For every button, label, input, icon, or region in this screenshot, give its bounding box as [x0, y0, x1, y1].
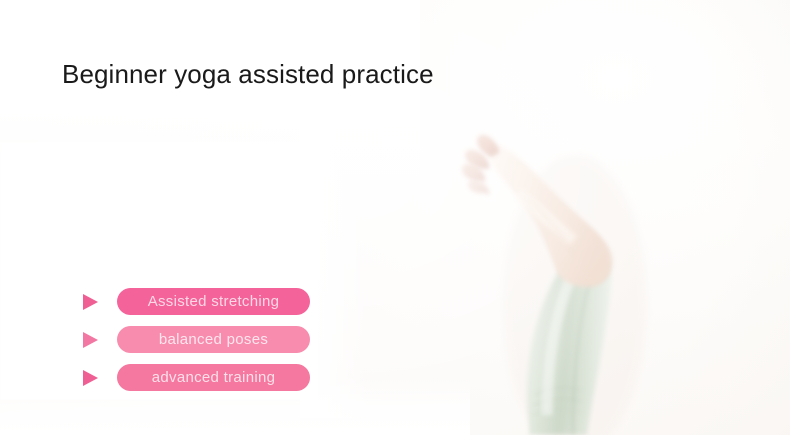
feature-pill-assisted-stretching[interactable]: Assisted stretching [117, 288, 310, 315]
feature-list: Assisted stretching balanced poses advan… [80, 288, 340, 391]
play-triangle-icon [80, 368, 100, 388]
feature-label: Assisted stretching [148, 294, 280, 309]
feature-label: balanced poses [159, 332, 268, 347]
play-triangle-icon [80, 330, 100, 350]
banner-title: Beginner yoga assisted practice [62, 58, 434, 91]
play-triangle-icon [80, 292, 100, 312]
feature-row-advanced-training[interactable]: advanced training [80, 364, 340, 391]
feature-pill-advanced-training[interactable]: advanced training [117, 364, 310, 391]
yoga-promo-banner: Beginner yoga assisted practice Assisted… [0, 0, 790, 435]
feature-label: advanced training [152, 370, 276, 385]
feature-row-balanced-poses[interactable]: balanced poses [80, 326, 340, 353]
feature-pill-balanced-poses[interactable]: balanced poses [117, 326, 310, 353]
feature-row-assisted-stretching[interactable]: Assisted stretching [80, 288, 340, 315]
